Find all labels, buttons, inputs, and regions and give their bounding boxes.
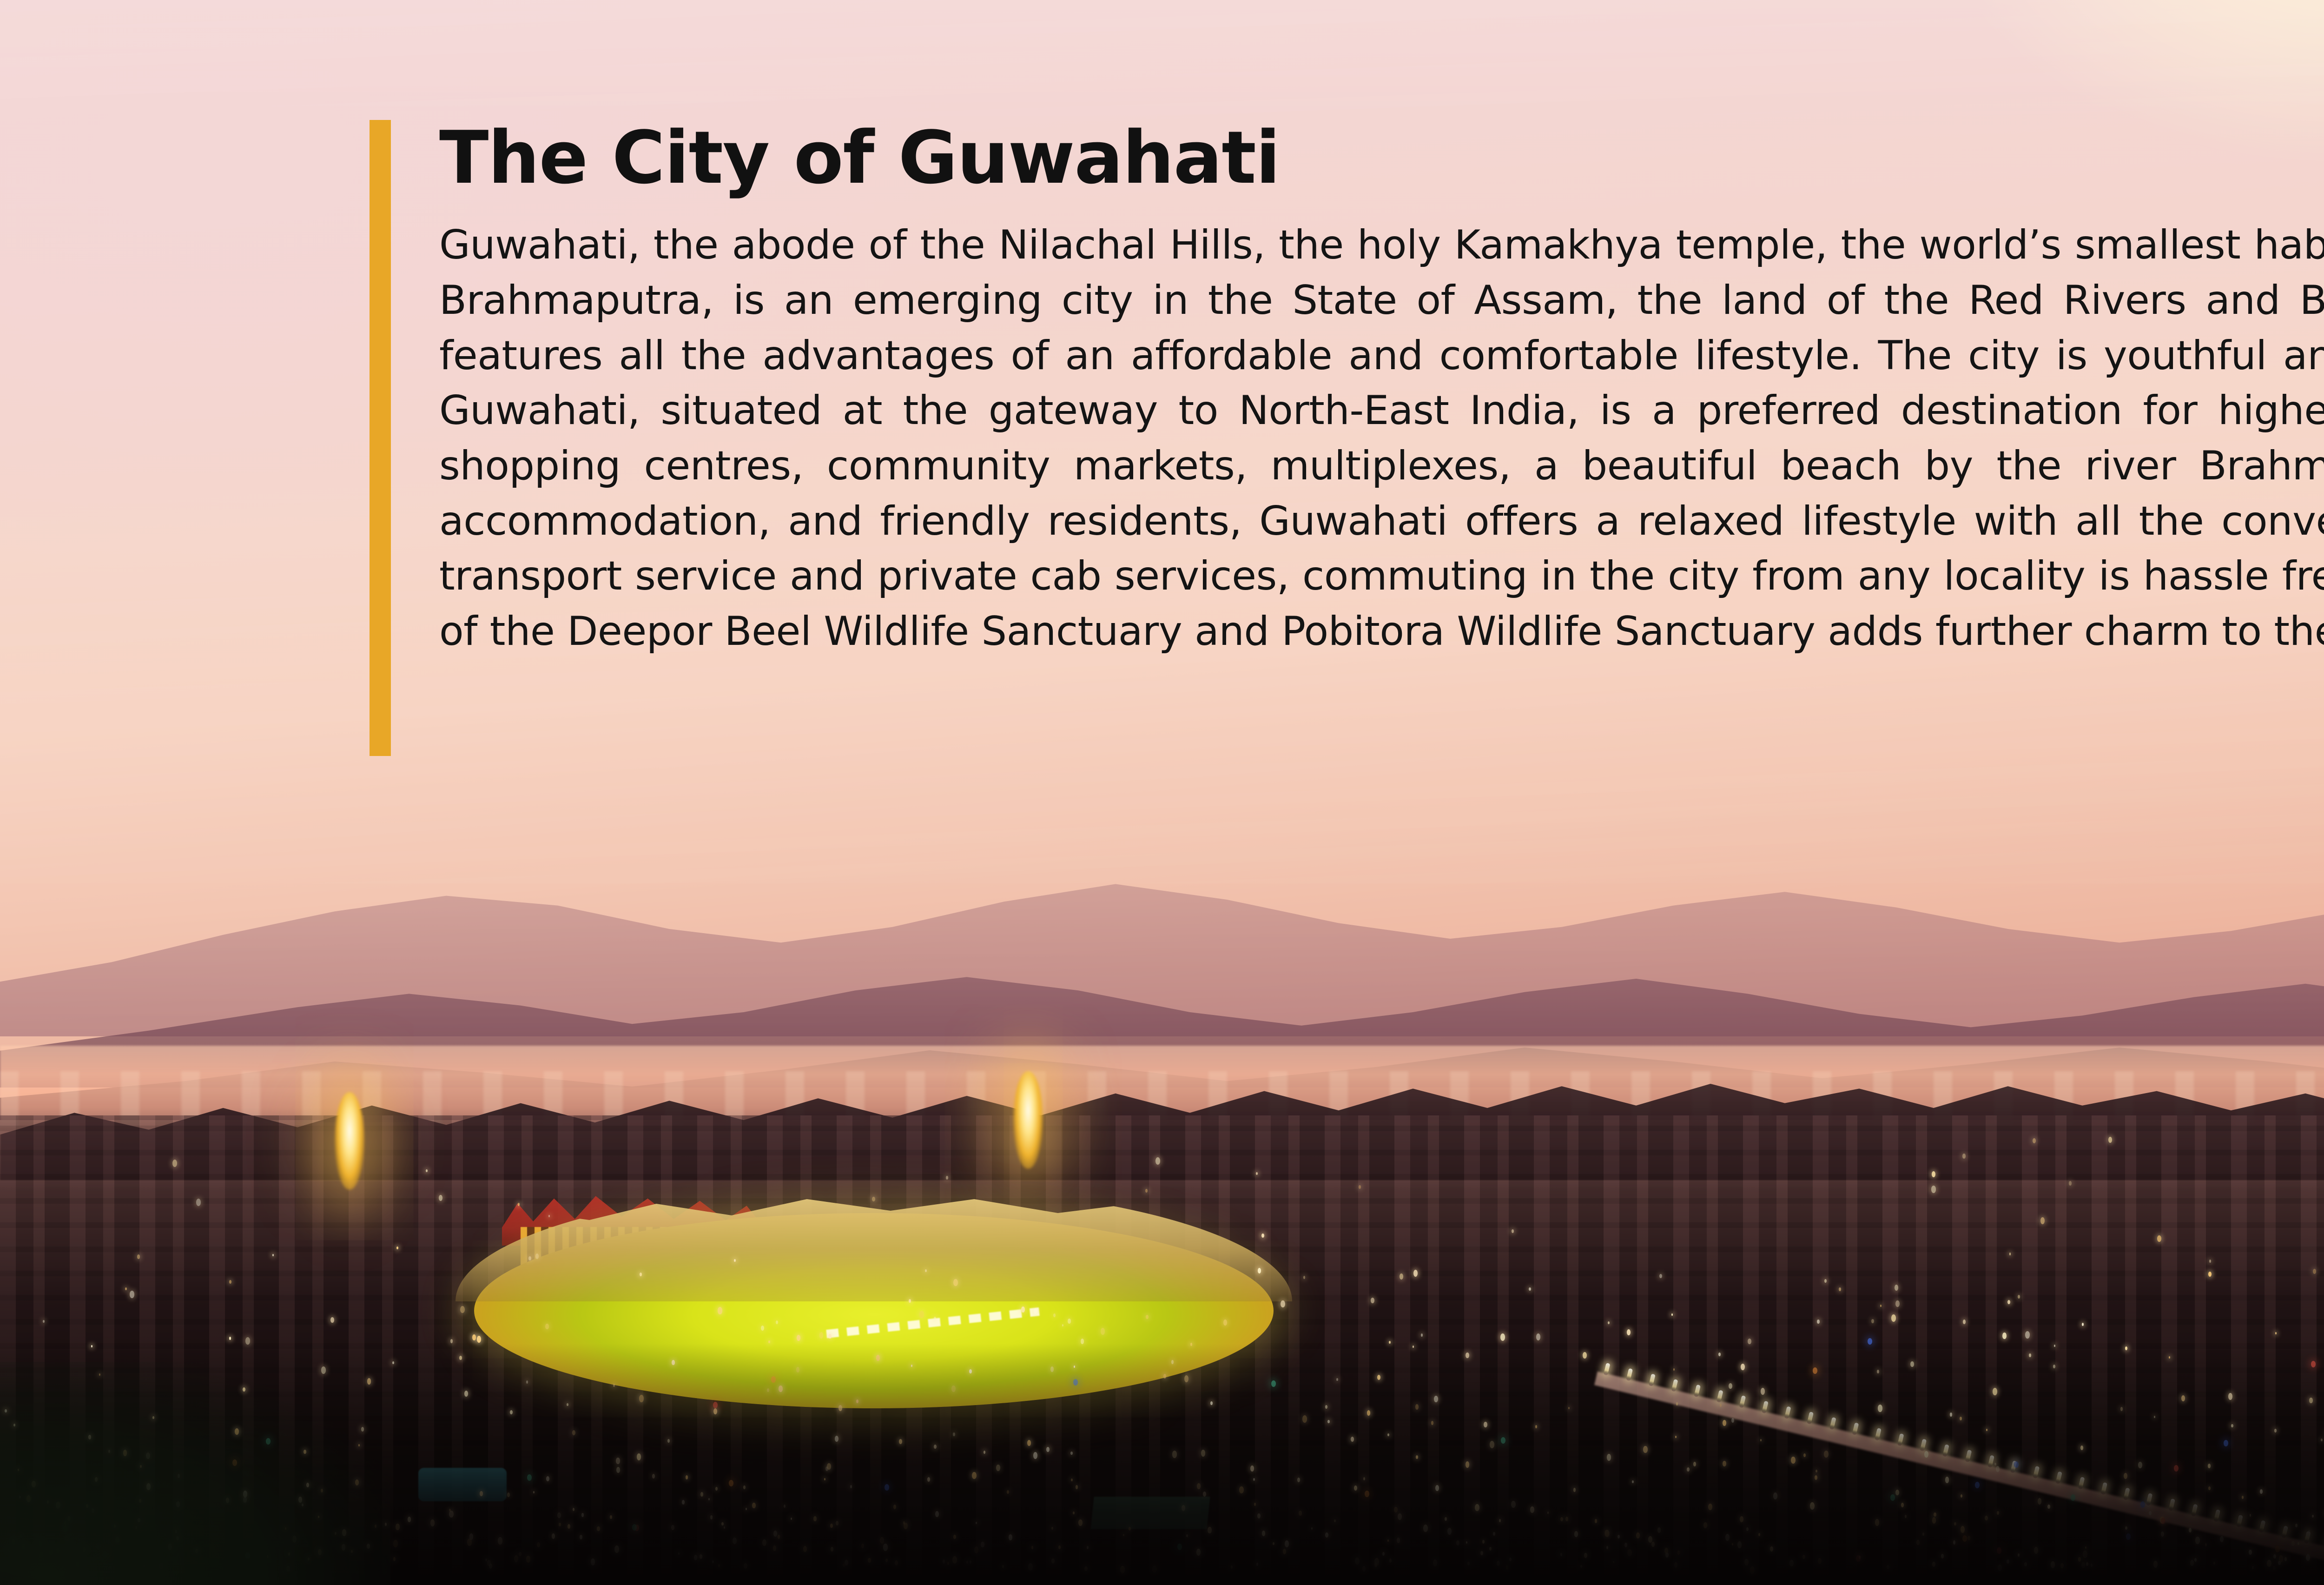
- city-description-paragraph: Guwahati, the abode of the Nilachal Hill…: [439, 218, 2324, 659]
- stadium-floodlight-left: [335, 1092, 364, 1190]
- yellow-accent-bar: [370, 120, 391, 756]
- foreground-foliage: [0, 1362, 390, 1585]
- text-column: The City of Guwahati Guwahati, the abode…: [439, 120, 2324, 659]
- banner-content: The City of Guwahati Guwahati, the abode…: [370, 120, 2324, 659]
- guwahati-hero-banner: The City of Guwahati Guwahati, the abode…: [0, 0, 2324, 1585]
- stadium-floodlight-right: [1013, 1071, 1043, 1169]
- page-title: The City of Guwahati: [439, 120, 2324, 195]
